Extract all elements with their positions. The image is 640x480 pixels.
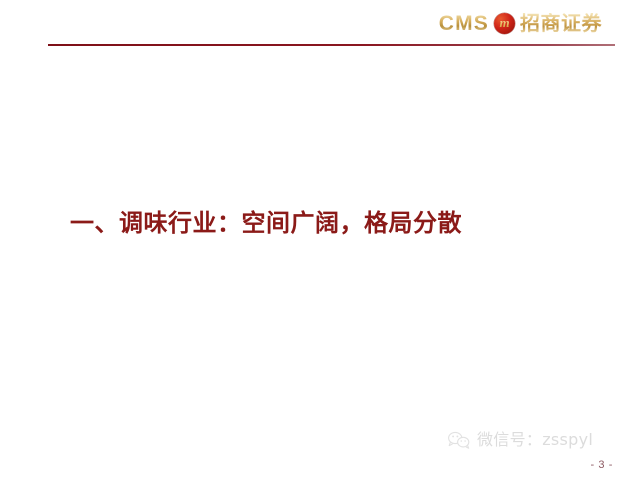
wechat-watermark: 微信号：zsspyl <box>447 430 593 450</box>
logo-chinese-text: 招商证券 <box>520 13 602 33</box>
slide-header: CMS 招商证券 <box>0 0 640 52</box>
page-title: 一、调味行业：空间广阔，格局分散 <box>70 207 462 239</box>
page-number-value: - 3 - <box>590 459 613 471</box>
wechat-id-label: 微信号：zsspyl <box>477 432 593 448</box>
logo-latin-text: CMS <box>439 13 489 34</box>
logo-emblem-icon <box>494 13 515 34</box>
company-logo: CMS 招商证券 <box>439 8 602 38</box>
header-divider <box>48 44 615 46</box>
slide-canvas: CMS 招商证券 一、调味行业：空间广阔，格局分散 微信号：zsspyl - 3… <box>0 0 640 480</box>
wechat-face-icon <box>447 430 471 450</box>
